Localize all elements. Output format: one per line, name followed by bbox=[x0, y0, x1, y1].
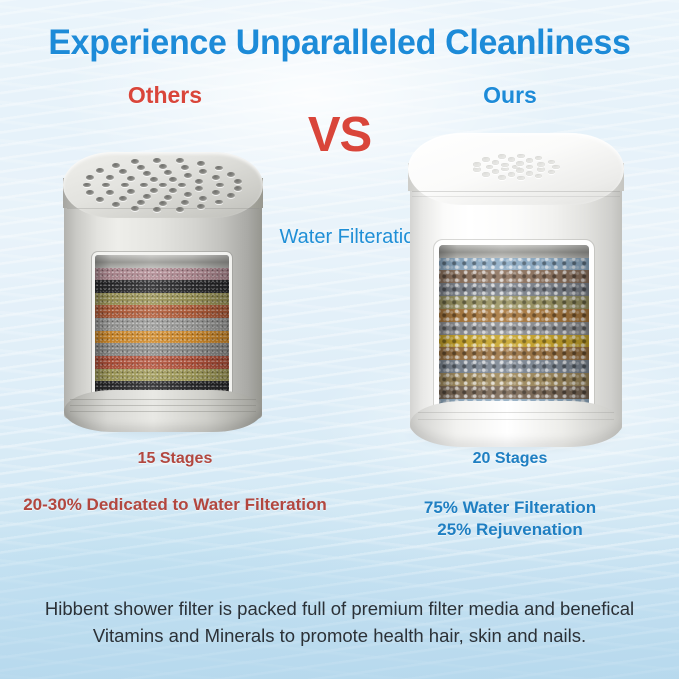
perforation-hole bbox=[535, 174, 543, 179]
filter-cartridge-others bbox=[64, 152, 262, 420]
perforation-hole bbox=[181, 200, 189, 205]
perforation-hole bbox=[121, 183, 129, 188]
perforation-hole bbox=[176, 158, 184, 163]
perforation-hole bbox=[119, 196, 127, 201]
window-screen-top bbox=[439, 245, 589, 258]
perforation-hole bbox=[234, 186, 242, 191]
window-screen-top bbox=[95, 255, 229, 268]
perforation-hole bbox=[516, 168, 524, 173]
cartridge-base-white bbox=[410, 401, 622, 447]
center-caption: Water Filteration bbox=[275, 224, 430, 250]
perforation-hole bbox=[137, 165, 145, 170]
perforation-holes-others bbox=[64, 152, 262, 214]
perforation-hole bbox=[199, 169, 207, 174]
stat-description-ours-line1: 75% Water Filteration bbox=[355, 497, 665, 519]
stat-description-ours: 75% Water Filteration 25% Rejuvenation bbox=[355, 497, 665, 541]
perforation-hole bbox=[212, 175, 220, 180]
column-label-others: Others bbox=[0, 82, 330, 109]
cartridge-body-white bbox=[410, 167, 622, 433]
perforation-holes-ours bbox=[410, 133, 622, 195]
perforation-hole bbox=[215, 200, 223, 205]
perforation-hole bbox=[153, 158, 161, 163]
media-window-ours bbox=[439, 245, 589, 425]
perforation-hole bbox=[112, 163, 120, 168]
perforation-hole bbox=[106, 175, 114, 180]
perforation-hole bbox=[486, 165, 494, 170]
perforation-hole bbox=[159, 164, 167, 169]
perforation-hole bbox=[537, 162, 545, 167]
perforation-hole bbox=[516, 161, 524, 166]
stat-stages-ours: 20 Stages bbox=[355, 450, 665, 468]
perforation-hole bbox=[552, 165, 560, 170]
perforation-hole bbox=[197, 204, 205, 209]
perforation-hole bbox=[164, 170, 172, 175]
perforation-hole bbox=[526, 171, 534, 176]
column-label-ours: Ours bbox=[360, 82, 660, 109]
perforation-hole bbox=[492, 169, 500, 174]
stat-description-ours-line2: 25% Rejuvenation bbox=[355, 519, 665, 541]
perforation-hole bbox=[498, 175, 506, 180]
perforation-hole bbox=[548, 160, 556, 165]
perforation-hole bbox=[526, 158, 534, 163]
perforation-hole bbox=[150, 177, 158, 182]
perforation-hole bbox=[216, 183, 224, 188]
perforation-hole bbox=[127, 176, 135, 181]
perforation-hole bbox=[195, 179, 203, 184]
perforation-hole bbox=[140, 183, 148, 188]
perforation-hole bbox=[234, 179, 242, 184]
cartridge-base-grey bbox=[64, 390, 262, 432]
perforation-hole bbox=[83, 183, 91, 188]
perforation-hole bbox=[131, 159, 139, 164]
perforation-hole bbox=[143, 194, 151, 199]
perforation-hole bbox=[159, 183, 167, 188]
perforation-hole bbox=[535, 156, 543, 161]
perforation-hole bbox=[96, 168, 104, 173]
perforation-hole bbox=[526, 165, 534, 170]
stat-stages-others: 15 Stages bbox=[15, 450, 335, 468]
perforation-hole bbox=[178, 183, 186, 188]
perforation-hole bbox=[517, 154, 525, 159]
perforation-hole bbox=[501, 163, 509, 168]
perforation-hole bbox=[482, 172, 490, 177]
perforation-hole bbox=[176, 207, 184, 212]
perforation-hole bbox=[508, 172, 516, 177]
perforation-hole bbox=[473, 167, 481, 172]
perforation-hole bbox=[482, 157, 490, 162]
perforation-hole bbox=[548, 170, 556, 175]
perforation-hole bbox=[492, 160, 500, 165]
perforation-hole bbox=[169, 188, 177, 193]
perforation-hole bbox=[498, 154, 506, 159]
perforation-hole bbox=[106, 190, 114, 195]
perforation-hole bbox=[508, 157, 516, 162]
perforation-hole bbox=[150, 188, 158, 193]
filter-cartridge-ours bbox=[410, 133, 622, 433]
perforation-hole bbox=[537, 167, 545, 172]
perforation-hole bbox=[131, 206, 139, 211]
perforation-hole bbox=[102, 183, 110, 188]
perforation-hole bbox=[96, 197, 104, 202]
perforation-hole bbox=[127, 189, 135, 194]
perforation-hole bbox=[181, 165, 189, 170]
perforation-hole bbox=[195, 186, 203, 191]
perforation-hole bbox=[137, 200, 145, 205]
cartridge-body-grey bbox=[64, 186, 262, 420]
perforation-hole bbox=[227, 193, 235, 198]
perforation-hole bbox=[153, 207, 161, 212]
perforation-hole bbox=[184, 173, 192, 178]
perforation-hole bbox=[164, 195, 172, 200]
perforation-hole bbox=[501, 167, 509, 172]
perforation-hole bbox=[112, 202, 120, 207]
perforation-hole bbox=[119, 169, 127, 174]
page-title: Experience Unparalleled Cleanliness bbox=[10, 23, 669, 63]
footer-description: Hibbent shower filter is packed full of … bbox=[30, 595, 649, 649]
perforation-hole bbox=[215, 166, 223, 171]
perforation-hole bbox=[143, 171, 151, 176]
perforation-hole bbox=[517, 176, 525, 181]
stat-description-others: 20-30% Dedicated to Water Filteration bbox=[15, 494, 335, 516]
perforation-hole bbox=[197, 161, 205, 166]
perforation-hole bbox=[212, 190, 220, 195]
perforation-hole bbox=[159, 201, 167, 206]
perforation-hole bbox=[473, 162, 481, 167]
perforation-hole bbox=[86, 190, 94, 195]
perforation-hole bbox=[169, 177, 177, 182]
perforation-hole bbox=[199, 196, 207, 201]
perforation-hole bbox=[184, 192, 192, 197]
perforation-hole bbox=[86, 175, 94, 180]
perforation-hole bbox=[227, 172, 235, 177]
